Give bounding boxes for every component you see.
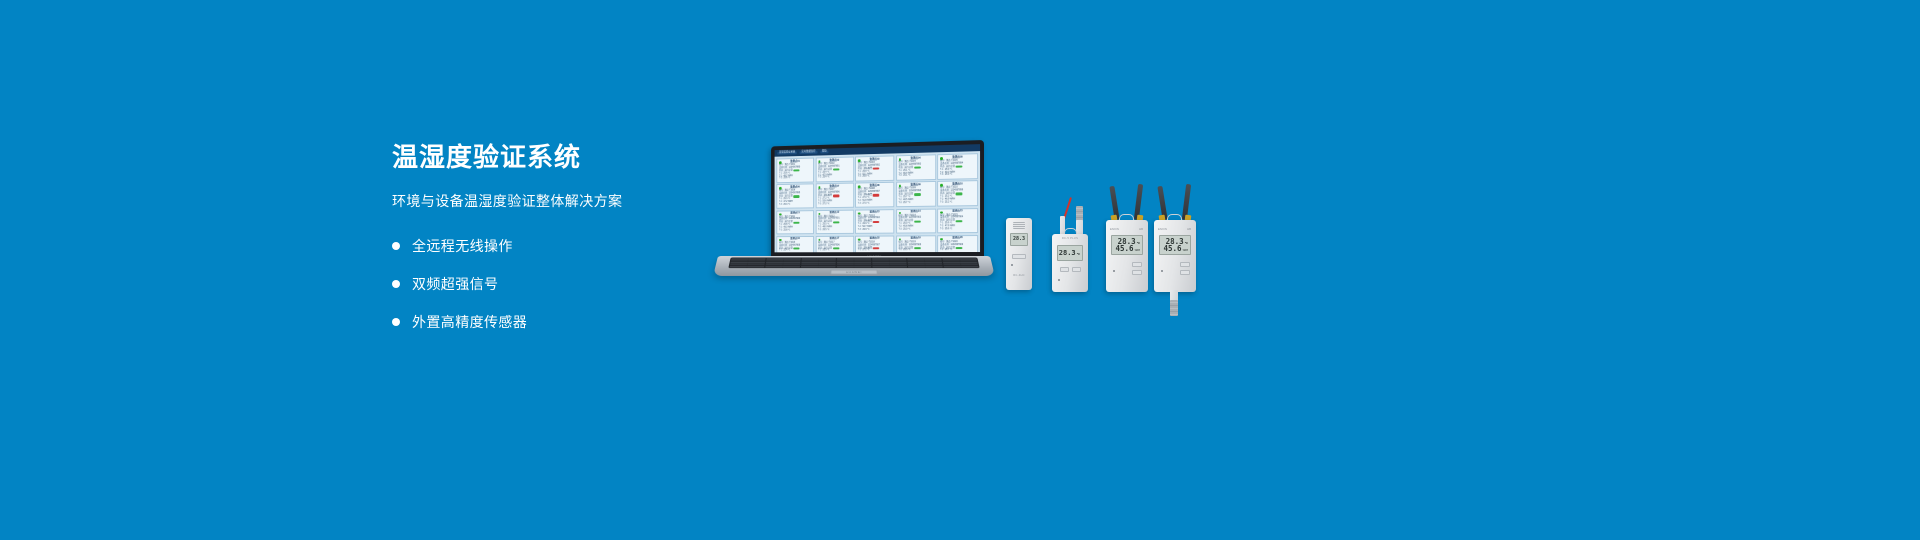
list-item: 双频超强信号 — [392, 271, 712, 297]
wireless-logger-left: EN/ON HB 28.3 ℃ 45.6 %RH — [1106, 220, 1148, 292]
feature-label: 外置高精度传感器 — [412, 312, 527, 332]
device-label-power: EN/ON — [1110, 227, 1119, 231]
laptop-screen: 温湿度验证系统 实时数据监控 帮助 监测点01编号:测点-T1001设备名称:1… — [775, 144, 980, 252]
sensor-card-grid: 监测点01编号:测点-T1001设备名称:1234567890状态:运行正常T-… — [775, 151, 980, 252]
feature-list: 全远程无线操作 双频超强信号 外置高精度传感器 — [392, 233, 712, 335]
keyboard-key[interactable] — [908, 266, 925, 267]
sensor-card[interactable]: 监测点12编号:测点-T1012设备名称:1234567901状态:运行正常T-… — [815, 209, 853, 234]
bullet-dot-icon — [392, 318, 400, 326]
card-status-led-icon — [818, 212, 820, 214]
device-display: 28.3 ℃ 45.6 %RH — [1111, 235, 1143, 255]
card-field-key: T-3: — [898, 175, 902, 178]
sensor-card[interactable]: 监测点18编号:测点-T1018设备名称:1234567907状态:超标报警T-… — [855, 235, 894, 252]
card-field-row: T-3:26.9 ℃ — [858, 229, 892, 232]
card-status-badge — [794, 247, 800, 249]
keyboard-key[interactable] — [765, 266, 782, 267]
card-field-value: 25.9 ℃ — [945, 174, 952, 177]
card-status-led-icon — [858, 238, 860, 240]
wireless-logger-right: EN/ON HB 28.3 ℃ 45.6 %RH — [1154, 220, 1196, 292]
card-status-led-icon — [940, 157, 942, 160]
keyboard-key[interactable] — [783, 266, 800, 267]
sensor-card[interactable]: 监测点04编号:测点-T1004设备名称:1234567893状态:运行正常T-… — [896, 154, 936, 180]
card-status-badge — [833, 247, 839, 249]
keyboard-key[interactable] — [926, 266, 943, 267]
card-field-key: T-3: — [779, 204, 783, 207]
card-field-row: T-3:25.9 ℃ — [940, 174, 975, 178]
keyboard-key[interactable] — [801, 266, 818, 267]
card-title: 监测点19 — [898, 238, 932, 241]
bullet-dot-icon — [392, 242, 400, 250]
list-item: 全远程无线操作 — [392, 233, 712, 259]
device-button-rec[interactable] — [1180, 270, 1190, 275]
card-status-badge — [873, 194, 880, 196]
card-status-led-icon — [779, 187, 781, 189]
card-field-key: T-3: — [898, 229, 902, 232]
card-status-led-icon — [898, 212, 900, 214]
card-field-key: T-3: — [940, 228, 944, 231]
sensor-card[interactable]: 监测点15编号:测点-T1015设备名称:1234567904状态:运行正常T-… — [937, 208, 978, 234]
laptop-base: HUAWEI — [713, 256, 995, 276]
promo-banner: 温湿度验证系统 环境与设备温湿度验证整体解决方案 全远程无线操作 双频超强信号 … — [0, 0, 1920, 540]
led-indicator-icon — [1161, 270, 1163, 272]
card-title: 监测点16 — [779, 238, 811, 241]
sensor-card[interactable]: 监测点11编号:测点-T1011设备名称:1234567900状态:运行正常T-… — [776, 210, 814, 235]
card-field-row: T-3:25.1 ℃ — [898, 174, 932, 178]
keyboard-key[interactable] — [943, 266, 960, 267]
sensor-card[interactable]: 监测点05编号:测点-T1005设备名称:1234567894状态:运行正常T-… — [937, 153, 978, 180]
card-field-key: T-3: — [858, 229, 862, 232]
device-label-power: EN/ON — [1158, 227, 1167, 231]
device-button[interactable] — [1012, 254, 1026, 259]
card-field-value: 27.2 ℃ — [823, 203, 830, 206]
card-field-key: T-3: — [898, 202, 902, 205]
card-field-row: T-3:27.0 ℃ — [858, 202, 892, 205]
page-title: 温湿度验证系统 — [392, 142, 712, 173]
card-title: 监测点13 — [858, 211, 892, 214]
vent-grille-icon — [1013, 222, 1025, 229]
card-status-badge — [873, 247, 880, 249]
card-field-row: T-3:25.6 ℃ — [779, 177, 811, 180]
card-status-led-icon — [858, 186, 860, 188]
card-status-led-icon — [818, 186, 820, 188]
sensor-card[interactable]: 监测点02编号:测点-T1002设备名称:1234567891状态:运行正常T-… — [815, 156, 853, 182]
data-logger-small: 28.3 RC-4HC — [1006, 218, 1032, 290]
card-field-key: T-3: — [779, 178, 783, 181]
display-humidity-row: 45.6 %RH — [1162, 245, 1188, 253]
device-model-label: RC-5 PLUS — [1052, 237, 1088, 240]
card-status-badge — [833, 195, 839, 197]
data-logger-probe: RC-5 PLUS 28.3 ℃ — [1052, 234, 1088, 292]
temperature-value: 28.3 — [1059, 250, 1076, 257]
sensor-card[interactable]: 监测点19编号:测点-T1019设备名称:1234567908状态:运行正常T-… — [896, 235, 936, 252]
sensor-card[interactable]: 监测点16编号:测点-T1016设备名称:1234567905状态:运行正常T-… — [776, 236, 814, 253]
device-button-rec[interactable] — [1072, 267, 1081, 272]
bullet-dot-icon — [392, 280, 400, 288]
laptop-lid: 温湿度验证系统 实时数据监控 帮助 监测点01编号:测点-T1001设备名称:1… — [771, 140, 984, 258]
card-title: 监测点11 — [779, 212, 811, 215]
list-item: 外置高精度传感器 — [392, 309, 712, 335]
card-field-row: T-3:25.2 ℃ — [940, 201, 975, 204]
card-field-key: T-3: — [940, 174, 944, 177]
sensor-card[interactable]: 监测点10编号:测点-T1010设备名称:1234567899状态:运行正常T-… — [937, 180, 978, 206]
card-title: 监测点12 — [818, 212, 851, 215]
card-field-row: T-3:25.4 ℃ — [818, 176, 851, 179]
humidity-value: 45.6 — [1164, 245, 1182, 253]
card-status-led-icon — [940, 211, 942, 214]
device-display: 28.3 ℃ 45.6 %RH — [1159, 235, 1191, 255]
laptop-product-image: 温湿度验证系统 实时数据监控 帮助 监测点01编号:测点-T1001设备名称:1… — [718, 140, 990, 300]
card-title: 监测点17 — [818, 238, 851, 241]
card-title: 监测点20 — [940, 237, 975, 240]
sensor-card[interactable]: 监测点09编号:测点-T1009设备名称:1234567898状态:运行正常T-… — [896, 181, 936, 207]
keyboard-key[interactable] — [747, 266, 764, 267]
sensor-card[interactable]: 监测点03编号:测点-T1003设备名称:1234567892状态:超标报警T-… — [855, 155, 894, 181]
card-status-led-icon — [898, 158, 900, 161]
card-field-row: T-3:27.2 ℃ — [818, 203, 851, 206]
card-field-key: T-3: — [818, 177, 822, 180]
card-field-key: T-3: — [858, 202, 862, 205]
laptop-keyboard[interactable] — [728, 257, 979, 268]
card-status-badge — [794, 195, 800, 197]
page-subtitle: 环境与设备温湿度验证整体解决方案 — [392, 191, 712, 211]
led-indicator-icon — [1058, 279, 1060, 281]
card-field-key: T-3: — [818, 203, 822, 206]
card-field-value: 25.4 ℃ — [823, 177, 830, 180]
card-field-value: 25.3 ℃ — [783, 203, 790, 206]
keyboard-key[interactable] — [819, 266, 836, 267]
card-field-key: T-3: — [858, 176, 862, 179]
device-button-set[interactable] — [1132, 262, 1142, 267]
device-display: 28.3 ℃ — [1057, 245, 1083, 261]
keyboard-row — [730, 266, 979, 267]
device-button-set[interactable] — [1180, 262, 1190, 267]
device-button-set[interactable] — [1060, 267, 1069, 272]
laptop-brand: HUAWEI — [846, 270, 862, 273]
device-label-hb: HB — [1139, 227, 1143, 231]
card-field-value: 25.5 ℃ — [823, 229, 830, 232]
keyboard-key[interactable] — [854, 266, 871, 267]
card-status-badge — [914, 193, 921, 195]
card-field-row: T-3:25.7 ℃ — [898, 201, 932, 204]
card-field-row: T-3:25.3 ℃ — [779, 203, 811, 206]
card-title: 监测点15 — [940, 210, 975, 213]
device-label-hb: HB — [1187, 227, 1191, 231]
sensor-card[interactable]: 监测点20编号:测点-T1020设备名称:1234567909状态:运行正常T-… — [937, 235, 978, 253]
card-field-row: T-3:25.6 ℃ — [940, 228, 975, 231]
banner-text-block: 温湿度验证系统 环境与设备温湿度验证整体解决方案 全远程无线操作 双频超强信号 … — [392, 142, 712, 347]
card-status-badge — [794, 221, 800, 223]
card-title: 监测点18 — [858, 238, 892, 241]
temperature-unit: ℃ — [1077, 253, 1080, 256]
card-status-led-icon — [779, 239, 781, 241]
card-status-badge — [956, 193, 963, 195]
sensor-card[interactable]: 监测点01编号:测点-T1001设备名称:1234567890状态:运行正常T-… — [776, 158, 814, 183]
card-field-value: 25.0 ℃ — [903, 228, 910, 231]
humidity-value: 45.6 — [1116, 245, 1134, 253]
sensor-card[interactable]: 监测点13编号:测点-T1013设备名称:1234567902状态:超标报警T-… — [855, 209, 894, 234]
card-status-badge — [956, 220, 963, 222]
topbar-item-help[interactable]: 帮助 — [820, 150, 828, 154]
sensor-card[interactable]: 监测点06编号:测点-T1006设备名称:1234567895状态:运行正常T-… — [776, 184, 814, 209]
keyboard-key[interactable] — [837, 266, 854, 267]
display-humidity-row: 45.6 %RH — [1114, 245, 1140, 253]
card-status-led-icon — [940, 238, 942, 240]
card-title: 监测点14 — [898, 211, 932, 214]
card-field-key: T-3: — [940, 201, 944, 204]
sensor-card[interactable]: 监测点14编号:测点-T1014设备名称:1234567903状态:运行正常T-… — [896, 208, 936, 234]
device-button-rec[interactable] — [1132, 270, 1142, 275]
card-status-badge — [833, 221, 839, 223]
led-indicator-icon — [1113, 270, 1115, 272]
card-field-row: T-3:25.0 ℃ — [898, 228, 932, 231]
display-temperature-row: 28.3 ℃ — [1060, 250, 1080, 257]
external-probe-mesh — [1170, 300, 1178, 316]
card-field-value: 25.6 ℃ — [945, 228, 952, 231]
card-status-led-icon — [818, 160, 820, 162]
humidity-unit: %RH — [1135, 249, 1140, 252]
card-field-row: T-3:25.5 ℃ — [818, 229, 851, 232]
card-field-row: T-3:26.8 ℃ — [858, 175, 892, 178]
feature-label: 双频超强信号 — [412, 274, 498, 294]
feature-label: 全远程无线操作 — [412, 236, 513, 256]
card-status-led-icon — [858, 159, 860, 161]
humidity-unit: %RH — [1183, 249, 1188, 252]
sensor-card[interactable]: 监测点17编号:测点-T1017设备名称:1234567906状态:运行正常T-… — [815, 236, 853, 253]
keyboard-key[interactable] — [730, 266, 747, 267]
card-field-key: T-3: — [779, 229, 783, 232]
card-status-led-icon — [940, 184, 942, 187]
keyboard-key[interactable] — [872, 266, 889, 267]
card-field-value: 26.9 ℃ — [862, 229, 869, 232]
card-field-value: 25.2 ℃ — [945, 201, 952, 204]
sensor-card[interactable]: 监测点08编号:测点-T1008设备名称:1234567897状态:超标报警T-… — [855, 182, 894, 208]
device-display: 28.3 — [1010, 233, 1028, 246]
card-status-badge — [956, 247, 963, 249]
keyboard-key[interactable] — [961, 266, 978, 267]
keyboard-key[interactable] — [890, 266, 907, 267]
card-status-led-icon — [858, 212, 860, 214]
card-field-value: 25.6 ℃ — [783, 178, 790, 181]
card-status-led-icon — [898, 185, 900, 187]
card-field-key: T-3: — [818, 229, 822, 232]
topbar-item-monitor[interactable]: 实时数据监控 — [800, 150, 818, 154]
card-field-value: 25.7 ℃ — [903, 202, 910, 205]
device-model-label: RC-4HC — [1006, 274, 1032, 277]
card-status-badge — [873, 221, 880, 223]
card-status-badge — [914, 220, 921, 222]
card-status-badge — [914, 247, 921, 249]
card-field-value: 26.8 ℃ — [862, 176, 869, 179]
led-indicator-icon — [1011, 264, 1013, 266]
card-field-value: 25.8 ℃ — [783, 229, 790, 232]
topbar-item-system[interactable]: 温湿度验证系统 — [777, 151, 797, 155]
card-field-row: T-3:25.8 ℃ — [779, 229, 811, 232]
sensor-card[interactable]: 监测点07编号:测点-T1007设备名称:1234567896状态:超标报警T-… — [815, 183, 853, 208]
card-status-led-icon — [779, 213, 781, 215]
card-field-value: 25.1 ℃ — [903, 175, 910, 178]
card-field-value: 27.0 ℃ — [862, 202, 869, 205]
card-status-led-icon — [779, 161, 781, 163]
